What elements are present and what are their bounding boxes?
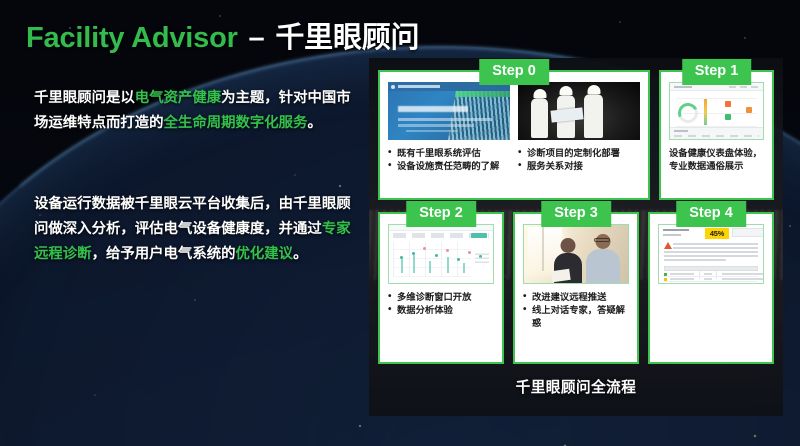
step-2-bullets: 多维诊断窗口开放 数据分析体验 bbox=[388, 291, 494, 317]
step-row-bottom: Step 2 bbox=[378, 212, 774, 364]
list-item: 诊断项目的定制化部署 bbox=[518, 147, 640, 160]
p1-highlight-3: 全生命周期数字化服务 bbox=[164, 115, 308, 131]
step-card-0[interactable]: Step 0 既有千里眼系统评估 设备设施责任范畴的了解 bbox=[378, 70, 650, 200]
list-item: 线上对话专家，答疑解惑 bbox=[523, 304, 629, 330]
step-0-bullets-right: 诊断项目的定制化部署 服务关系对接 bbox=[518, 147, 640, 173]
step-row-top: Step 0 既有千里眼系统评估 设备设施责任范畴的了解 bbox=[378, 70, 774, 200]
step-badge-3: Step 3 bbox=[541, 201, 611, 227]
p1-seg-4: 。 bbox=[307, 115, 321, 131]
step-badge-2: Step 2 bbox=[406, 201, 476, 227]
website-hero-thumbnail bbox=[388, 82, 510, 140]
step-badge-0: Step 0 bbox=[479, 59, 549, 85]
step-0-body: 既有千里眼系统评估 设备设施责任范畴的了解 诊断项目的定制化部 bbox=[388, 82, 640, 191]
step-card-1[interactable]: Step 1 设备健康仪表盘体验，专业数据通俗展示 bbox=[659, 70, 774, 200]
title-chinese: 千里眼顾问 bbox=[275, 22, 419, 54]
list-item: 设备设施责任范畴的了解 bbox=[388, 160, 510, 173]
title-dash: – bbox=[246, 22, 268, 54]
flow-caption: 千里眼顾问全流程 bbox=[369, 376, 783, 397]
step-card-grid: Step 0 既有千里眼系统评估 设备设施责任范畴的了解 bbox=[369, 58, 783, 416]
list-item: 改进建议远程推送 bbox=[523, 291, 629, 304]
p2-seg-0: 设备运行数据被千里眼云平台收集后，由千里眼顾问做深入分析，评估电气设备健康度，并… bbox=[34, 196, 351, 237]
expert-consultation-photo bbox=[523, 224, 629, 284]
step-0-column-right: 诊断项目的定制化部署 服务关系对接 bbox=[518, 82, 640, 191]
p2-seg-2: ，给予用户电气系统的 bbox=[92, 246, 236, 262]
p2-seg-4: 。 bbox=[293, 246, 307, 262]
step-badge-4: Step 4 bbox=[676, 201, 746, 227]
step-card-4[interactable]: Step 4 45% bbox=[648, 212, 774, 364]
p1-highlight-1: 电气资产健康 bbox=[135, 90, 221, 106]
step-card-3[interactable]: Step 3 改进建议远程推送 线上对话专家，答疑解惑 bbox=[513, 212, 639, 364]
slide-canvas: Facility Advisor – 千里眼顾问 千里眼顾问是以电气资产健康为主… bbox=[0, 0, 800, 446]
diagnostic-chart-thumbnail bbox=[388, 224, 494, 284]
slide-title: Facility Advisor – 千里眼顾问 bbox=[26, 14, 419, 56]
process-flow-panel: Step 0 既有千里眼系统评估 设备设施责任范畴的了解 bbox=[369, 58, 783, 416]
step-0-column-left: 既有千里眼系统评估 设备设施责任范畴的了解 bbox=[388, 82, 510, 191]
report-percentage-badge: 45% bbox=[705, 228, 729, 239]
list-item: 既有千里眼系统评估 bbox=[388, 147, 510, 160]
step-3-bullets: 改进建议远程推送 线上对话专家，答疑解惑 bbox=[523, 291, 629, 331]
list-item: 数据分析体验 bbox=[388, 304, 494, 317]
p2-highlight-3: 优化建议 bbox=[236, 246, 294, 262]
step-badge-1: Step 1 bbox=[682, 59, 752, 85]
list-item: 服务关系对接 bbox=[518, 160, 640, 173]
step-card-2[interactable]: Step 2 bbox=[378, 212, 504, 364]
health-dashboard-thumbnail bbox=[669, 82, 764, 140]
warning-triangle-icon bbox=[664, 242, 672, 249]
step-0-bullets-left: 既有千里眼系统评估 设备设施责任范畴的了解 bbox=[388, 147, 510, 173]
p1-seg-0: 千里眼顾问是以 bbox=[34, 90, 135, 106]
intro-paragraph-2: 设备运行数据被千里眼云平台收集后，由千里眼顾问做深入分析，评估电气设备健康度，并… bbox=[34, 192, 354, 267]
list-item: 多维诊断窗口开放 bbox=[388, 291, 494, 304]
step-1-description: 设备健康仪表盘体验，专业数据通俗展示 bbox=[669, 147, 764, 174]
assessment-report-thumbnail: 45% bbox=[658, 224, 764, 284]
title-english: Facility Advisor bbox=[26, 22, 238, 54]
intro-paragraph-1: 千里眼顾问是以电气资产健康为主题，针对中国市场运维特点而打造的全生命周期数字化服… bbox=[34, 86, 354, 136]
field-workers-photo bbox=[518, 82, 640, 140]
